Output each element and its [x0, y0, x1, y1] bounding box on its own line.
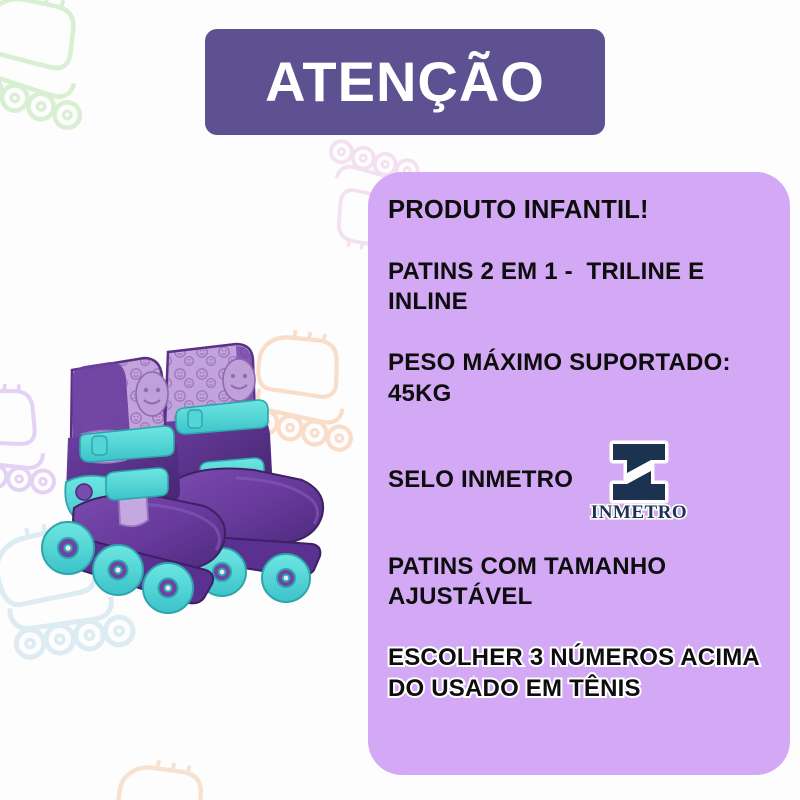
info-panel: PRODUTO INFANTIL! PATINS 2 EM 1 - TRILIN… — [368, 172, 790, 775]
info-line-adjustable: PATINS COM TAMANHO AJUSTÁVEL — [388, 552, 770, 613]
info-block-seal: SELO INMETRO INMETRO — [388, 440, 770, 522]
product-photo-patins — [40, 322, 350, 622]
info-line-model: PATINS 2 EM 1 - TRILINE E INLINE — [388, 257, 770, 318]
info-block-sizing: ESCOLHER 3 NÚMEROS ACIMA DO USADO EM TÊN… — [388, 643, 770, 704]
info-line-weight: PESO MÁXIMO SUPORTADO: 45KG — [388, 348, 770, 409]
panel-title: PRODUTO INFANTIL! — [388, 194, 770, 227]
attention-banner-label: ATENÇÃO — [265, 54, 545, 110]
attention-banner: ATENÇÃO — [205, 29, 605, 135]
skate-outline-top-right — [772, 0, 800, 124]
skate-outline-top-left — [0, 0, 113, 131]
inmetro-seal-icon: INMETRO — [587, 440, 691, 522]
info-block-title: PRODUTO INFANTIL! — [388, 194, 770, 227]
info-line-sizing: ESCOLHER 3 NÚMEROS ACIMA DO USADO EM TÊN… — [388, 643, 770, 704]
info-block-model: PATINS 2 EM 1 - TRILINE E INLINE — [388, 257, 770, 318]
info-block-weight: PESO MÁXIMO SUPORTADO: 45KG — [388, 348, 770, 409]
info-line-seal: SELO INMETRO — [388, 465, 573, 496]
inmetro-seal-label: INMETRO — [591, 502, 687, 522]
skate-outline-bottom-right — [102, 751, 238, 800]
info-block-adjustable: PATINS COM TAMANHO AJUSTÁVEL — [388, 552, 770, 613]
